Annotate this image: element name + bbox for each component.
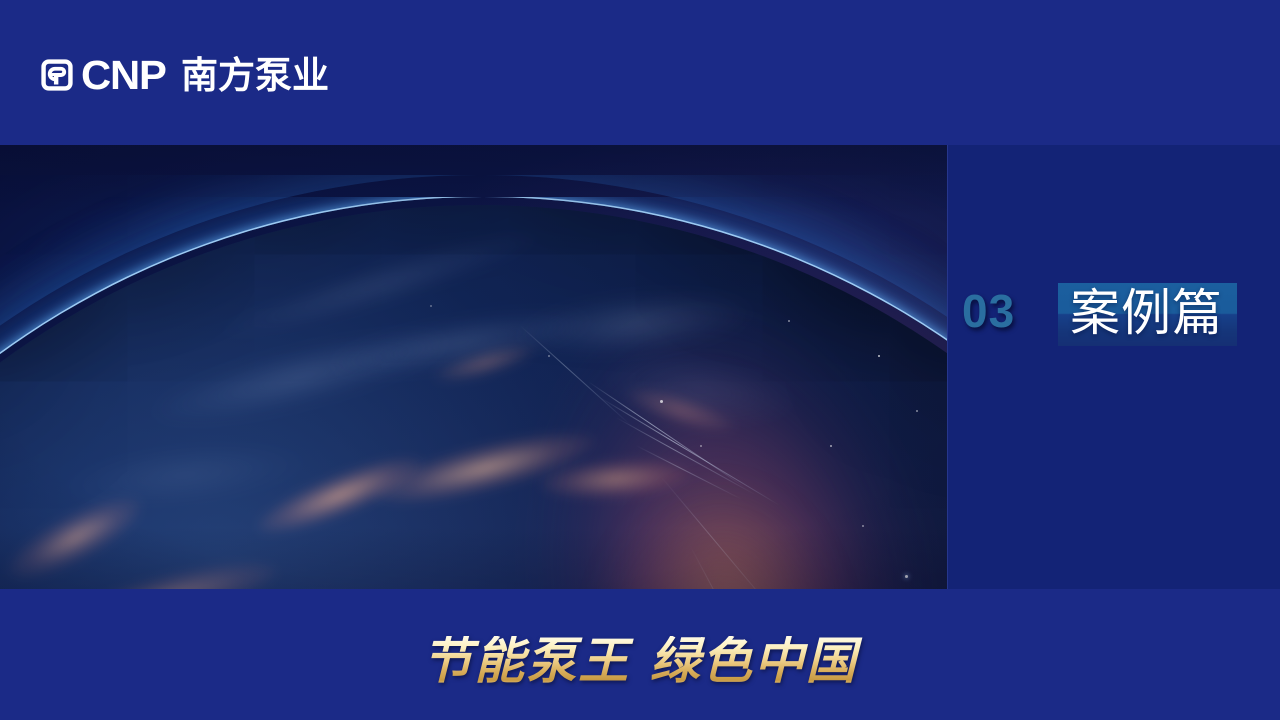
brand-latin-text: CNP	[81, 55, 166, 96]
section-number: 03	[962, 288, 1015, 334]
star	[878, 355, 880, 357]
brand-logo[interactable]: CNP 南方泵业	[40, 52, 329, 98]
space-background	[0, 145, 947, 589]
star	[430, 305, 432, 307]
star	[660, 400, 663, 403]
footer-slogan: 节能泵王 绿色中国	[0, 636, 1280, 686]
star	[862, 525, 864, 527]
star	[830, 445, 832, 447]
section-title: 案例篇	[1070, 285, 1223, 341]
brand-chinese-text: 南方泵业	[181, 57, 329, 94]
presentation-slide: CNP 南方泵业	[0, 0, 1280, 720]
star	[548, 355, 550, 357]
star	[905, 575, 908, 578]
star	[788, 320, 790, 322]
star	[700, 445, 702, 447]
hero-image	[0, 145, 947, 589]
slide-header: CNP 南方泵业	[0, 0, 1280, 145]
star	[916, 410, 918, 412]
right-side-panel	[947, 145, 1280, 589]
cnp-logo-mark-icon	[40, 58, 74, 92]
